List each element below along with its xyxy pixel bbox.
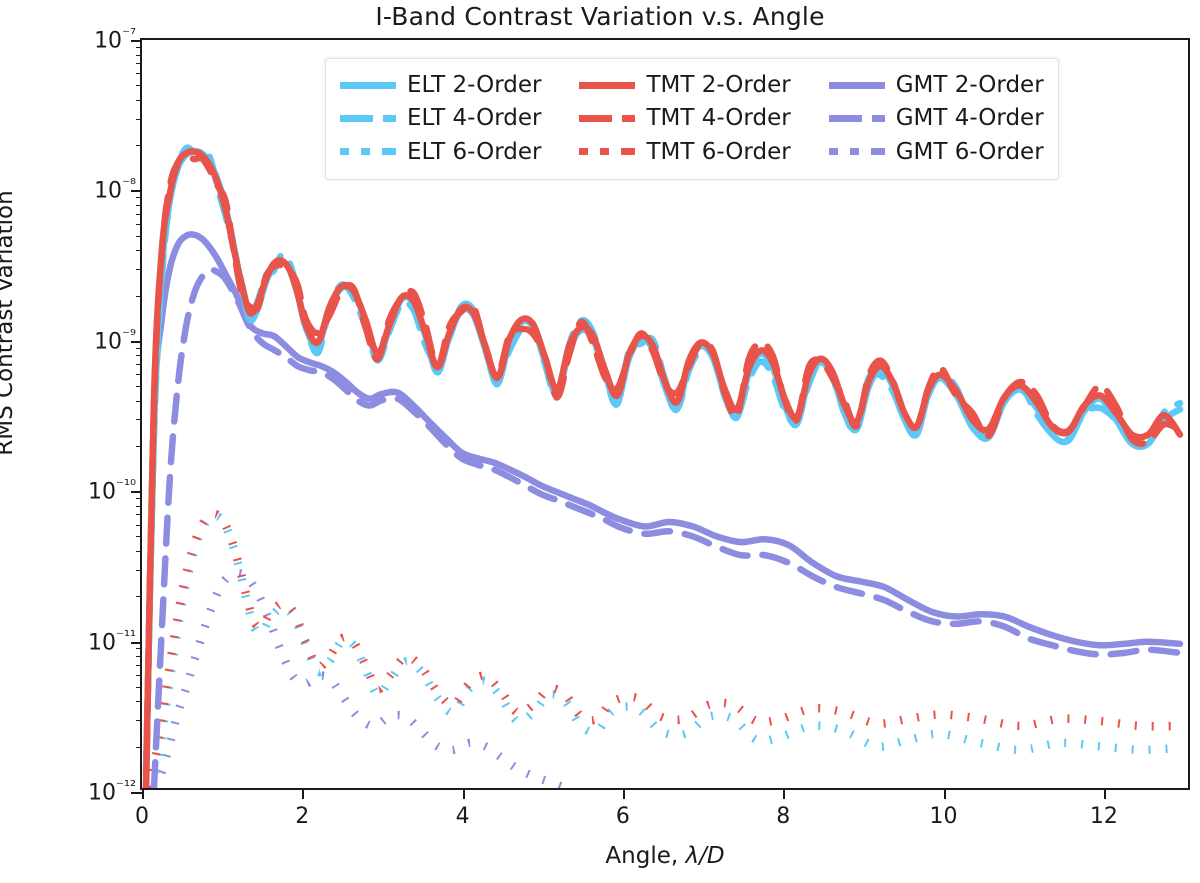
- x-tick-major: [463, 788, 465, 799]
- y-tick-label: 10⁻¹²: [16, 777, 136, 805]
- x-tick-label: 2: [262, 804, 342, 829]
- x-tick-major: [623, 788, 625, 799]
- x-tick-label: 0: [102, 804, 182, 829]
- legend-swatch-icon: [340, 115, 396, 122]
- y-tick-minor: [136, 224, 143, 225]
- y-tick-minor: [136, 675, 143, 676]
- y-tick-minor: [136, 401, 143, 402]
- y-tick-minor: [136, 687, 143, 688]
- figure-canvas: I-Band Contrast Variation v.s. Angle 10⁻…: [0, 0, 1200, 883]
- x-axis-label-symbol: λ/D: [686, 843, 725, 869]
- legend-entry-gmt-6-order[interactable]: GMT 6-Order: [829, 137, 1044, 167]
- y-tick-minor: [136, 348, 143, 349]
- y-tick-minor: [136, 145, 143, 146]
- y-tick-minor: [136, 747, 143, 748]
- y-tick-minor: [136, 446, 143, 447]
- y-tick-minor: [136, 665, 143, 666]
- legend-label: GMT 4-Order: [896, 103, 1044, 133]
- y-tick-minor: [136, 63, 143, 64]
- y-tick-minor: [136, 355, 143, 356]
- series-line-elt-4-order: [146, 148, 1180, 771]
- legend-entry-gmt-4-order[interactable]: GMT 4-Order: [829, 103, 1044, 133]
- legend-label: TMT 6-Order: [646, 137, 790, 167]
- y-tick-minor: [136, 386, 143, 387]
- y-tick-minor: [136, 514, 143, 515]
- legend-entry-tmt-6-order[interactable]: TMT 6-Order: [579, 137, 790, 167]
- y-tick-label: 10⁻¹¹: [16, 627, 136, 655]
- x-tick-major: [783, 788, 785, 799]
- x-axis-label-text: Angle,: [605, 843, 685, 869]
- y-tick-minor: [136, 701, 143, 702]
- legend-swatch-icon: [829, 148, 885, 155]
- legend-swatch-icon: [340, 148, 396, 155]
- y-tick-label: 10⁻⁹: [16, 326, 136, 354]
- y-tick-minor: [136, 551, 143, 552]
- legend: ELT 2-OrderTMT 2-OrderGMT 2-OrderELT 4-O…: [325, 58, 1059, 180]
- legend-entry-elt-6-order[interactable]: ELT 6-Order: [340, 137, 541, 167]
- series-line-tmt-2-order: [146, 151, 1180, 788]
- legend-swatch-icon: [829, 82, 885, 89]
- series-line-tmt-6-order: [150, 514, 1180, 788]
- legend-entry-gmt-2-order[interactable]: GMT 2-Order: [829, 70, 1044, 100]
- y-tick-minor: [136, 374, 143, 375]
- x-tick-major: [944, 788, 946, 799]
- y-tick-minor: [136, 720, 143, 721]
- legend-label: ELT 4-Order: [407, 103, 541, 133]
- y-tick-minor: [136, 73, 143, 74]
- legend-entry-elt-4-order[interactable]: ELT 4-Order: [340, 103, 541, 133]
- y-tick-minor: [136, 648, 143, 649]
- y-tick-minor: [136, 119, 143, 120]
- y-tick-minor: [136, 197, 143, 198]
- legend-label: GMT 2-Order: [896, 70, 1044, 100]
- y-tick-minor: [136, 55, 143, 56]
- y-tick-minor: [136, 419, 143, 420]
- page-title: I-Band Contrast Variation v.s. Angle: [0, 2, 1200, 31]
- x-axis-label: Angle, λ/D: [140, 843, 1190, 869]
- y-tick-label: 10⁻⁷: [16, 25, 136, 53]
- y-tick-minor: [136, 596, 143, 597]
- legend-swatch-icon: [579, 148, 635, 155]
- y-tick-minor: [136, 525, 143, 526]
- x-tick-major: [302, 788, 304, 799]
- x-tick-major: [142, 788, 144, 799]
- legend-label: ELT 2-Order: [407, 70, 541, 100]
- y-tick-minor: [136, 506, 143, 507]
- y-tick-minor: [136, 536, 143, 537]
- legend-label: TMT 2-Order: [646, 70, 790, 100]
- series-line-gmt-6-order: [154, 573, 565, 788]
- series-line-tmt-4-order: [146, 155, 1180, 788]
- y-axis-label: RMS Contrast Variation: [0, 113, 18, 533]
- y-tick-minor: [136, 100, 143, 101]
- legend-swatch-icon: [829, 115, 885, 122]
- legend-swatch-icon: [579, 115, 635, 122]
- y-tick-minor: [136, 214, 143, 215]
- x-tick-label: 10: [904, 804, 984, 829]
- x-tick-label: 12: [1064, 804, 1144, 829]
- legend-swatch-icon: [340, 82, 396, 89]
- y-tick-minor: [136, 205, 143, 206]
- legend-entry-tmt-4-order[interactable]: TMT 4-Order: [579, 103, 790, 133]
- x-tick-label: 4: [423, 804, 503, 829]
- y-tick-minor: [136, 85, 143, 86]
- series-line-gmt-4-order: [154, 270, 1180, 788]
- legend-label: GMT 6-Order: [896, 137, 1044, 167]
- y-tick-minor: [136, 269, 143, 270]
- y-tick-label: 10⁻¹⁰: [16, 476, 136, 504]
- legend-entry-elt-2-order[interactable]: ELT 2-Order: [340, 70, 541, 100]
- x-tick-major: [1104, 788, 1106, 799]
- y-tick-minor: [136, 250, 143, 251]
- legend-entry-tmt-2-order[interactable]: TMT 2-Order: [579, 70, 790, 100]
- y-tick-minor: [136, 570, 143, 571]
- series-line-elt-2-order: [146, 151, 1180, 776]
- legend-label: TMT 4-Order: [646, 103, 790, 133]
- y-tick-label: 10⁻⁸: [16, 175, 136, 203]
- y-tick-minor: [136, 364, 143, 365]
- series-line-elt-6-order: [150, 516, 1180, 788]
- y-tick-minor: [136, 498, 143, 499]
- y-tick-minor: [136, 47, 143, 48]
- y-tick-minor: [136, 236, 143, 237]
- x-tick-label: 8: [743, 804, 823, 829]
- legend-swatch-icon: [579, 82, 635, 89]
- y-tick-minor: [136, 656, 143, 657]
- legend-label: ELT 6-Order: [407, 137, 541, 167]
- y-tick-minor: [136, 296, 143, 297]
- x-tick-label: 6: [583, 804, 663, 829]
